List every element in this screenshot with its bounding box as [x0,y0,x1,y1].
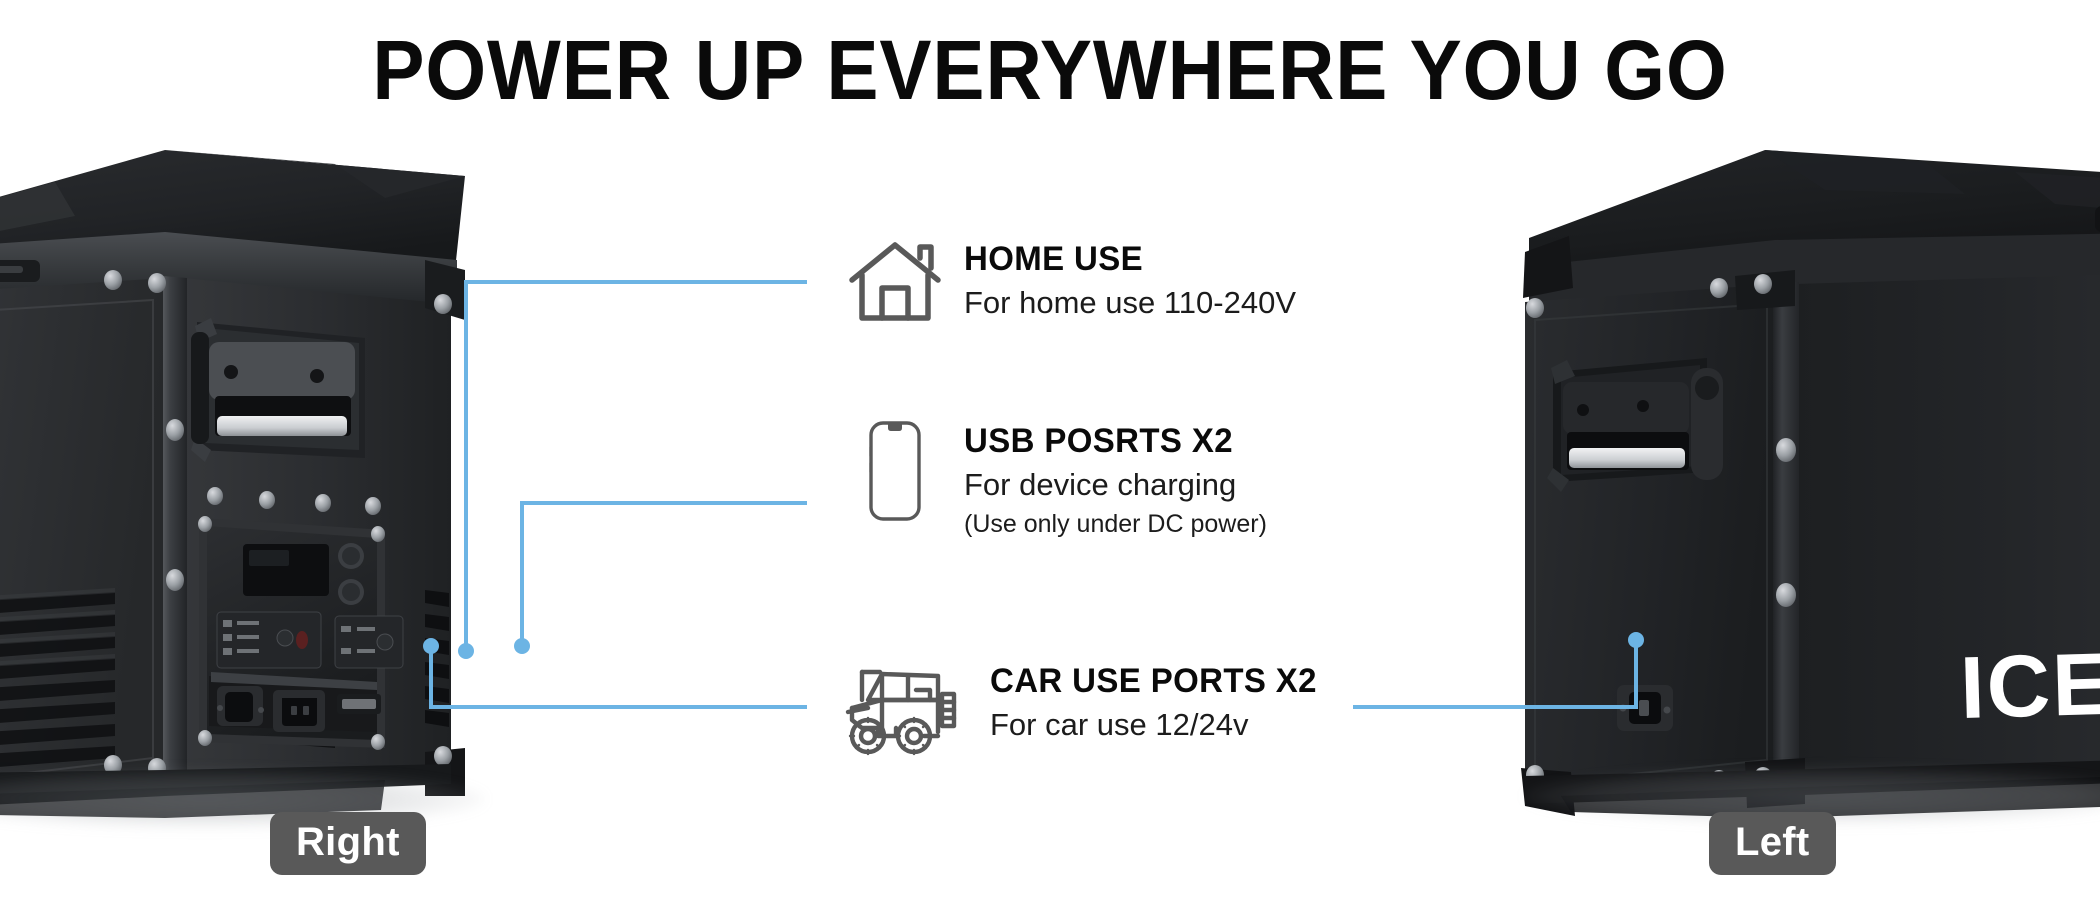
badge-right-side: Right [270,812,426,875]
screw-icon [315,494,331,512]
control-panel [198,516,403,750]
feature-title: USB POSRTS X2 [964,422,1258,460]
screw-icon [1776,438,1796,462]
screw-icon [148,273,166,293]
screw-icon [1710,278,1728,298]
feature-subtitle: For car use 12/24v [990,705,1327,745]
feature-subtitle: For device charging [964,465,1267,505]
screw-icon [434,746,452,766]
ac-inlet-port [273,690,325,732]
house-icon [848,238,942,324]
offroad-vehicle-icon [838,660,968,756]
screw-icon [371,526,385,542]
screw-icon [207,487,223,505]
infographic-canvas: POWER UP EVERYWHERE YOU GO [0,0,2100,900]
dc-car-port-left-unit [1617,685,1673,731]
screw-icon [166,569,184,591]
feature-title: HOME USE [964,240,1286,278]
usb-port [337,694,381,714]
dc-car-port [217,686,264,726]
recessed-handle [191,318,365,462]
screw-icon [104,270,122,290]
screw-icon [365,497,381,515]
feature-note: (Use only under DC power) [964,508,1267,541]
badge-left-side: Left [1709,812,1836,875]
screw-icon [166,419,184,441]
screw-icon [1526,298,1544,318]
feature-title: CAR USE PORTS X2 [990,662,1317,700]
screw-icon [1776,583,1796,607]
screw-icon [1754,274,1772,294]
page-title: POWER UP EVERYWHERE YOU GO [74,26,2027,114]
smartphone-icon [848,420,942,522]
brand-wordmark: ICECO [1959,630,2100,737]
product-image-left-side: ICECO [1495,120,2100,820]
feature-car-use-ports: CAR USE PORTS X2 For car use 12/24v [838,660,1327,756]
screw-icon [198,516,212,532]
screw-icon [259,491,275,509]
product-image-right-side [0,120,605,820]
screw-icon [371,734,385,750]
feature-usb-ports: USB POSRTS X2 For device charging (Use o… [848,420,1267,541]
recessed-handle [1547,358,1723,492]
feature-home-use: HOME USE For home use 110-240V [848,238,1296,324]
screw-icon [434,294,452,314]
screw-icon [198,730,212,746]
feature-subtitle: For home use 110-240V [964,283,1296,323]
